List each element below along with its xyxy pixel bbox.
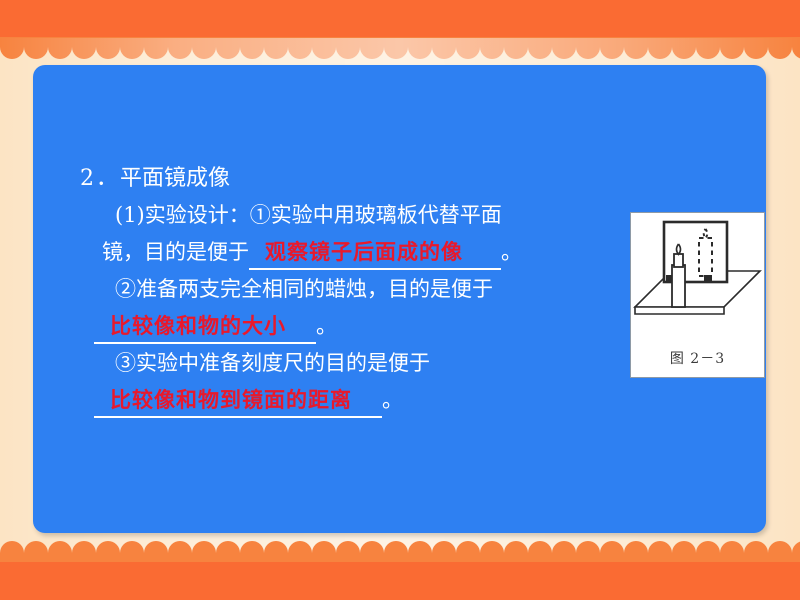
text-line-2a: ②准备两支完全相同的蜡烛，目的是便于: [58, 271, 628, 308]
heading-number: 2．: [80, 166, 120, 191]
frame-top-band: [0, 0, 800, 38]
slide-body-text: 2．平面镜成像 (1)实验设计：①实验中用玻璃板代替平面 镜，目的是便于观察镜子…: [58, 160, 628, 419]
text-run: ②准备两支完全相同的蜡烛，目的是便于: [115, 277, 493, 301]
text-line-3a: ③实验中准备刻度尺的目的是便于: [58, 345, 628, 382]
text-run: 镜，目的是便于: [102, 240, 249, 264]
text-run: 。: [316, 314, 337, 338]
text-run: (1)实验设计：①实验中用玻璃板代替平面: [115, 203, 502, 227]
horizontal-board-edge: [635, 307, 724, 314]
figure-plane-mirror-candle-experiment: 图 2－3: [630, 212, 765, 378]
frame-top-scallops: [0, 37, 800, 59]
figure-drawing: [631, 213, 764, 345]
candle-object-solid: [672, 244, 685, 307]
answer-blank-1: 观察镜子后面成的像: [249, 237, 501, 270]
frame-bottom-scallops: [0, 541, 800, 563]
text-run: ③实验中准备刻度尺的目的是便于: [115, 351, 430, 375]
content-panel: 2．平面镜成像 (1)实验设计：①实验中用玻璃板代替平面 镜，目的是便于观察镜子…: [33, 65, 766, 533]
slide-canvas: 2．平面镜成像 (1)实验设计：①实验中用玻璃板代替平面 镜，目的是便于观察镜子…: [0, 0, 800, 600]
figure-caption: 图 2－3: [631, 348, 764, 368]
text-line-1b: 镜，目的是便于观察镜子后面成的像。: [58, 234, 628, 271]
text-line-1a: (1)实验设计：①实验中用玻璃板代替平面: [58, 197, 628, 234]
heading-title: 平面镜成像: [120, 166, 230, 191]
text-line-3b: 比较像和物到镜面的距离。: [58, 382, 628, 419]
frame-bottom-band: [0, 562, 800, 600]
text-run: 。: [382, 388, 403, 412]
page-title: 2．平面镜成像: [58, 160, 628, 197]
text-line-2b: 比较像和物的大小。: [58, 308, 628, 345]
answer-blank-3: 比较像和物到镜面的距离: [94, 385, 382, 418]
text-run: 。: [501, 240, 522, 264]
answer-blank-2: 比较像和物的大小: [94, 311, 316, 344]
